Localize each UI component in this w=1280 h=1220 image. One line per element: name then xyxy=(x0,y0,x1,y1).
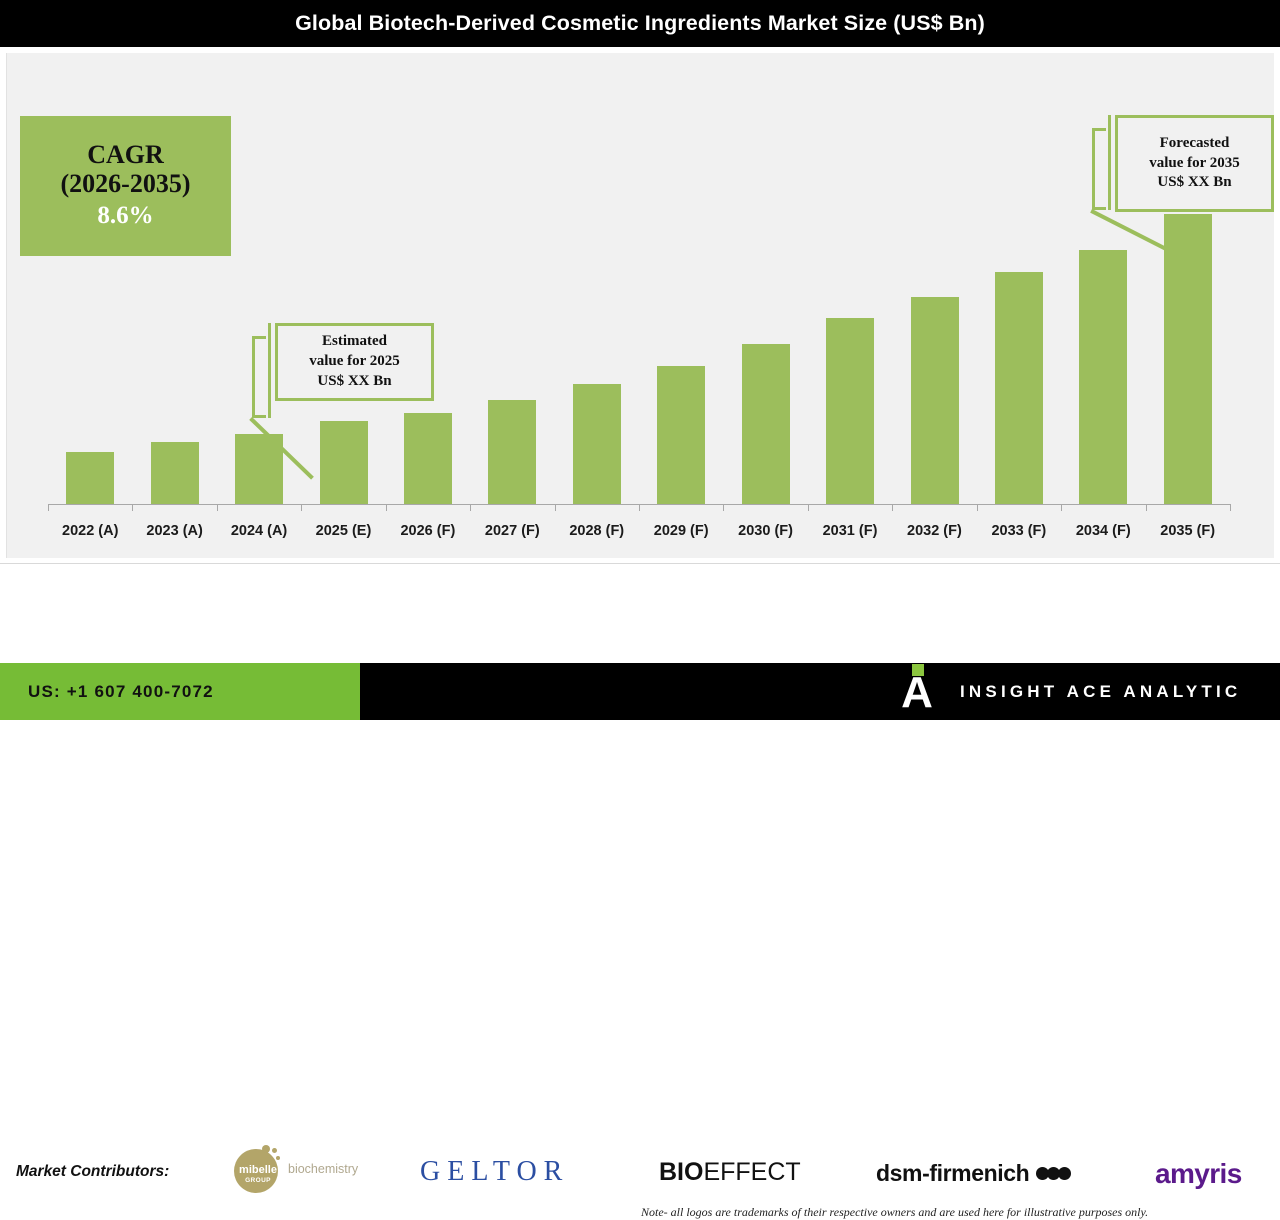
bar-2029f xyxy=(657,366,705,504)
x-axis-tick xyxy=(1230,504,1231,511)
infographic-page: Global Biotech-Derived Cosmetic Ingredie… xyxy=(0,0,1280,720)
x-axis-label: 2031 (F) xyxy=(808,516,892,546)
chart-panel: 2022 (A)2023 (A)2024 (A)2025 (E)2026 (F)… xyxy=(6,53,1274,558)
bar-2023a xyxy=(151,442,199,504)
logo-bioeffect: BIOEFFECT xyxy=(659,1158,801,1187)
market-contributors-label: Market Contributors: xyxy=(16,1163,169,1181)
insightace-logo-icon: A xyxy=(898,670,936,714)
mibelle-wordmark: mibelle xyxy=(238,1165,278,1177)
x-axis-tick xyxy=(301,504,302,511)
footer-contact-block: US: +1 607 400-7072 xyxy=(0,663,360,720)
x-axis-label: 2022 (A) xyxy=(48,516,132,546)
x-axis-tick xyxy=(217,504,218,511)
footer-brand-block: A INSIGHT ACE ANALYTIC xyxy=(360,663,1280,720)
x-axis-tick xyxy=(892,504,893,511)
footer-phone-number: US: +1 607 400-7072 xyxy=(28,682,214,702)
x-axis-label: 2034 (F) xyxy=(1061,516,1145,546)
page-title: Global Biotech-Derived Cosmetic Ingredie… xyxy=(295,11,985,36)
callout-2035-line2: value for 2035 xyxy=(1149,154,1240,174)
bar-2030f xyxy=(742,344,790,504)
logo-geltor: GELTOR xyxy=(420,1156,569,1188)
x-axis-label: 2027 (F) xyxy=(470,516,554,546)
x-axis-tick xyxy=(386,504,387,511)
bar-2028f xyxy=(573,384,621,504)
market-contributors-strip: Market Contributors: mibelle GROUP bioch… xyxy=(0,563,1280,659)
bar-2027f xyxy=(488,400,536,504)
brand-name: INSIGHT ACE ANALYTIC xyxy=(960,682,1241,702)
x-axis-tick xyxy=(132,504,133,511)
bioeffect-light-part: EFFECT xyxy=(703,1158,800,1186)
bar-2025e xyxy=(320,421,368,504)
callout-2025-line2: value for 2025 xyxy=(309,352,400,372)
x-axis-label: 2029 (F) xyxy=(639,516,723,546)
callout-2035-line1: Forecasted xyxy=(1160,134,1230,154)
x-axis-label: 2023 (A) xyxy=(132,516,216,546)
logo-amyris: amyris xyxy=(1155,1158,1242,1190)
x-axis-tick xyxy=(470,504,471,511)
x-axis-tick xyxy=(977,504,978,511)
x-axis-tick xyxy=(808,504,809,511)
bar-2032f xyxy=(911,297,959,504)
x-axis-tick xyxy=(555,504,556,511)
trademark-note: Note- all logos are trademarks of their … xyxy=(641,1205,1148,1220)
x-axis-label: 2025 (E) xyxy=(301,516,385,546)
callout-2025-line3: US$ XX Bn xyxy=(317,372,391,392)
callout-2035-bracket xyxy=(1092,128,1114,210)
dsm-dots-icon xyxy=(1038,1167,1071,1180)
x-axis-label: 2030 (F) xyxy=(723,516,807,546)
bar-2034f xyxy=(1079,250,1127,504)
bioeffect-bold-part: BIO xyxy=(659,1158,703,1186)
mibelle-logo-mark: mibelle GROUP xyxy=(232,1145,284,1193)
x-axis-tick xyxy=(639,504,640,511)
mibelle-biochemistry-text: biochemistry xyxy=(288,1162,358,1176)
x-axis-label: 2033 (F) xyxy=(977,516,1061,546)
x-axis-tick xyxy=(723,504,724,511)
cagr-value: 8.6% xyxy=(97,200,153,233)
x-axis-label: 2032 (F) xyxy=(892,516,976,546)
logo-dsm-firmenich: dsm-firmenich xyxy=(876,1160,1071,1187)
callout-forecasted-2035: Forecasted value for 2035 US$ XX Bn xyxy=(1115,115,1274,212)
dsm-firmenich-wordmark: dsm-firmenich xyxy=(876,1160,1029,1187)
bar-2033f xyxy=(995,272,1043,504)
footer: US: +1 607 400-7072 A INSIGHT ACE ANALYT… xyxy=(0,663,1280,720)
bioeffect-wordmark: BIOEFFECT xyxy=(659,1158,801,1187)
x-axis-label: 2026 (F) xyxy=(386,516,470,546)
callout-2035-line3: US$ XX Bn xyxy=(1157,173,1231,193)
x-axis-label: 2024 (A) xyxy=(217,516,301,546)
bar-2031f xyxy=(826,318,874,504)
geltor-wordmark: GELTOR xyxy=(420,1156,569,1188)
callout-2025-bracket xyxy=(252,336,274,418)
bar-2022a xyxy=(66,452,114,504)
callout-estimated-2025: Estimated value for 2025 US$ XX Bn xyxy=(275,323,434,401)
callout-2025-line1: Estimated xyxy=(322,332,387,352)
brand-letter: A xyxy=(898,672,936,714)
x-axis-tick xyxy=(1061,504,1062,511)
x-axis-label: 2035 (F) xyxy=(1145,516,1229,546)
cagr-period: (2026-2035) xyxy=(61,169,191,198)
x-axis-tick xyxy=(1146,504,1147,511)
cagr-label: CAGR xyxy=(87,140,164,169)
logo-mibelle-biochemistry: mibelle GROUP biochemistry xyxy=(232,1145,374,1193)
x-axis-label: 2028 (F) xyxy=(555,516,639,546)
cagr-box: CAGR (2026-2035) 8.6% xyxy=(20,116,231,256)
x-axis-labels: 2022 (A)2023 (A)2024 (A)2025 (E)2026 (F)… xyxy=(48,516,1230,546)
bar-2026f xyxy=(404,413,452,504)
x-axis-tick xyxy=(48,504,49,511)
mibelle-group-text: GROUP xyxy=(238,1177,278,1185)
title-bar: Global Biotech-Derived Cosmetic Ingredie… xyxy=(0,0,1280,47)
amyris-wordmark: amyris xyxy=(1155,1158,1242,1190)
